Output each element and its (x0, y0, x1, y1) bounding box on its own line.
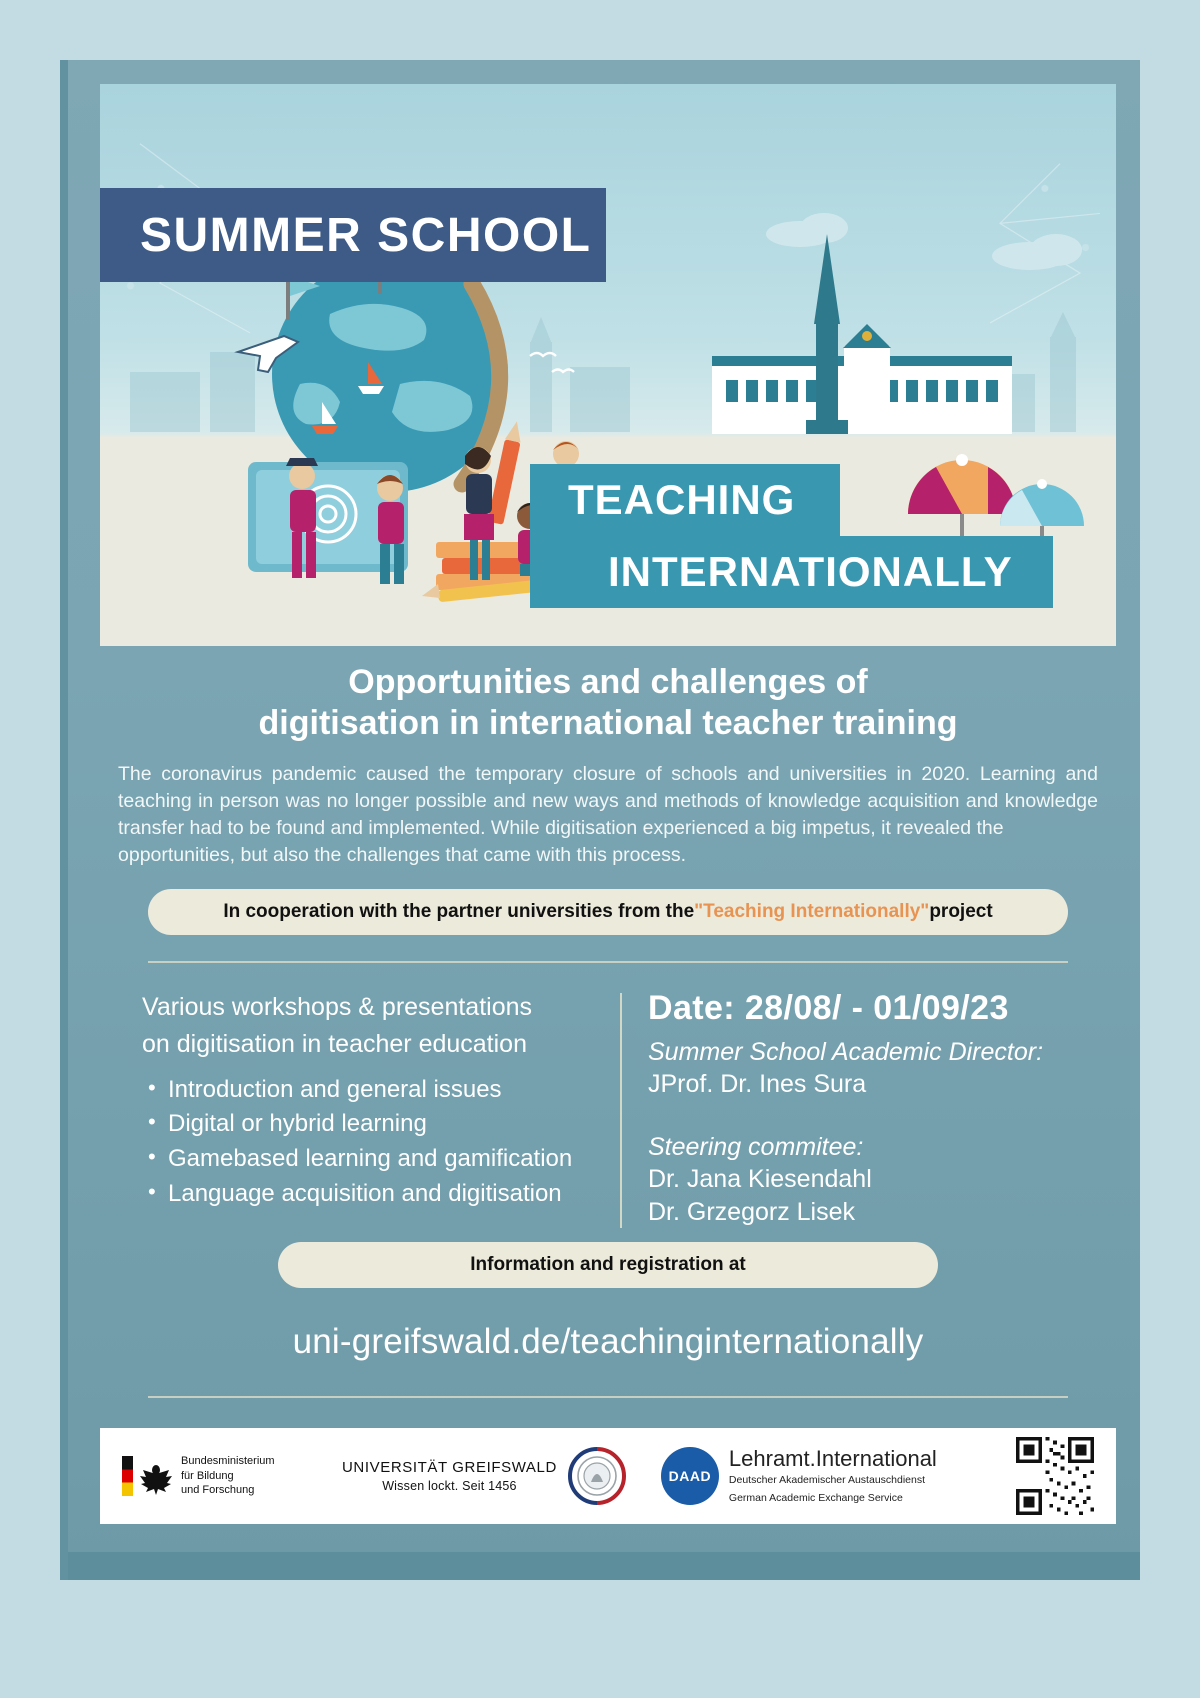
divider-top (148, 961, 1068, 963)
university-name: UNIVERSITÄT GREIFSWALD (342, 1459, 557, 1476)
daad-program-title: Lehramt.International (729, 1447, 937, 1470)
workshops-lead-line2: on digitisation in teacher education (142, 1026, 612, 1063)
university-seal-icon (567, 1446, 627, 1506)
bmbf-text: Bundesministerium für Bildung und Forsch… (181, 1454, 275, 1499)
poster: SUMMER SCHOOL TEACHING INTERNATIONALLY O… (60, 60, 1140, 1580)
headline-line-2: digitisation in international teacher tr… (140, 703, 1076, 744)
spacer (648, 1101, 1074, 1123)
intro-paragraph-last-line: opportunities, but also the challenges t… (118, 842, 1098, 869)
logo-bmbf: Bundesministerium für Bildung und Forsch… (122, 1454, 312, 1499)
banner-summer-school: SUMMER SCHOOL (100, 188, 606, 282)
banner-teaching-internationally: TEACHING INTERNATIONALLY (530, 464, 1053, 608)
university-motto: Wissen lockt. Seit 1456 (342, 1479, 557, 1493)
list-item: Digital or hybrid learning (142, 1109, 612, 1140)
banner-summer-school-label: SUMMER SCHOOL (140, 208, 592, 263)
banner-teaching-line1: TEACHING (530, 464, 840, 536)
details-column: Date: 28/08/ - 01/09/23 Summer School Ac… (648, 989, 1074, 1229)
cooperation-accent: "Teaching Internationally" (694, 901, 929, 923)
logo-university-greifswald: UNIVERSITÄT GREIFSWALD Wissen lockt. Sei… (342, 1446, 627, 1506)
german-flag-icon (122, 1456, 133, 1496)
cooperation-prefix: In cooperation with the partner universi… (223, 901, 694, 923)
list-item: Language acquisition and digitisation (142, 1179, 612, 1210)
steering-committee-member: Dr. Grzegorz Lisek (648, 1196, 1074, 1229)
workshops-column: Various workshops & presentations on dig… (142, 989, 612, 1229)
cooperation-banner: In cooperation with the partner universi… (148, 889, 1068, 935)
daad-subtitle-en: German Academic Exchange Service (729, 1492, 937, 1506)
banner-teaching-line2-label: INTERNATIONALLY (608, 548, 1013, 596)
event-date: Date: 28/08/ - 01/09/23 (648, 989, 1074, 1028)
workshop-topics-list: Introduction and general issues Digital … (142, 1075, 612, 1210)
intro-paragraph: The coronavirus pandemic caused the temp… (100, 745, 1116, 869)
banner-teaching-line2: INTERNATIONALLY (530, 536, 1053, 608)
list-item: Introduction and general issues (142, 1075, 612, 1106)
intro-paragraph-main: The coronavirus pandemic caused the temp… (118, 761, 1098, 842)
registration-url[interactable]: uni-greifswald.de/teachinginternationall… (100, 1322, 1116, 1362)
banner-teaching-line1-label: TEACHING (568, 476, 795, 524)
qr-code-icon[interactable] (1016, 1437, 1094, 1515)
academic-director-name: JProf. Dr. Ines Sura (648, 1068, 1074, 1101)
registration-banner: Information and registration at (278, 1242, 938, 1288)
registration-banner-label: Information and registration at (470, 1254, 746, 1276)
poster-footer-band (68, 1552, 1140, 1580)
headline-line-1: Opportunities and challenges of (140, 662, 1076, 703)
cooperation-suffix: project (929, 901, 992, 923)
hero-illustration: SUMMER SCHOOL TEACHING INTERNATIONALLY (100, 84, 1116, 646)
workshops-lead: Various workshops & presentations on dig… (142, 989, 612, 1063)
two-column-section: Various workshops & presentations on dig… (100, 989, 1116, 1229)
poster-content: Opportunities and challenges of digitisa… (100, 646, 1116, 1398)
bmbf-line1: Bundesministerium (181, 1454, 275, 1469)
bmbf-line3: und Forschung (181, 1483, 275, 1498)
daad-badge: DAAD (661, 1447, 719, 1505)
federal-eagle-icon (139, 1456, 173, 1496)
list-item: Gamebased learning and gamification (142, 1144, 612, 1175)
steering-committee-label: Steering commitee: (648, 1131, 1074, 1164)
bmbf-line2: für Bildung (181, 1469, 275, 1484)
sponsor-logo-strip: Bundesministerium für Bildung und Forsch… (100, 1428, 1116, 1524)
page-title: Opportunities and challenges of digitisa… (100, 646, 1116, 745)
logo-daad: DAAD Lehramt.International Deutscher Aka… (661, 1447, 937, 1505)
academic-director-label: Summer School Academic Director: (648, 1036, 1074, 1069)
divider-bottom (148, 1396, 1068, 1398)
workshops-lead-line1: Various workshops & presentations (142, 989, 612, 1026)
column-divider (620, 993, 622, 1229)
daad-subtitle-de: Deutscher Akademischer Austauschdienst (729, 1474, 937, 1488)
steering-committee-member: Dr. Jana Kiesendahl (648, 1163, 1074, 1196)
